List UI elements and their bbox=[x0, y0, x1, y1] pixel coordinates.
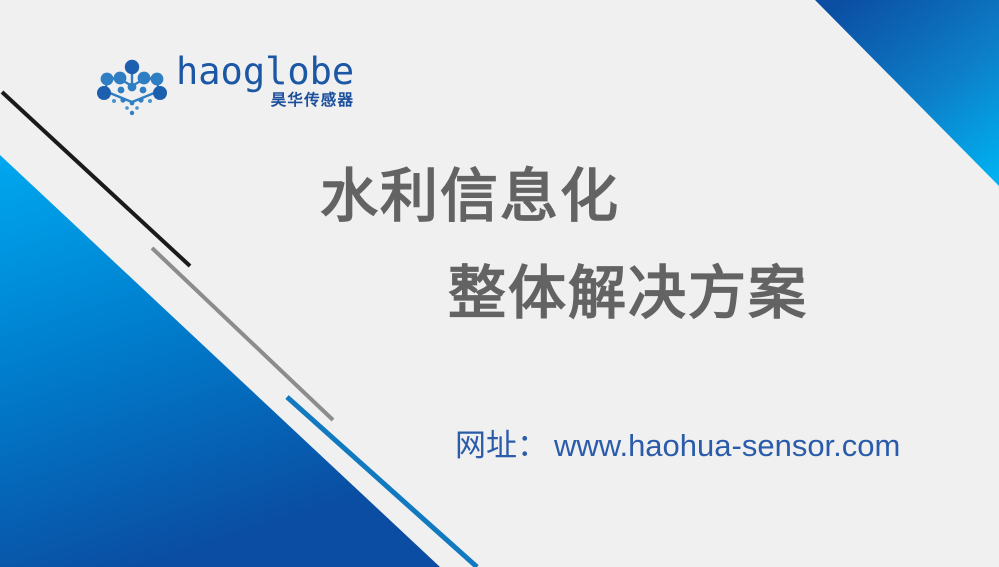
website-url[interactable]: www.haohua-sensor.com bbox=[554, 428, 900, 464]
slide-title-line-2: 整体解决方案 bbox=[448, 265, 808, 323]
slide-canvas: haoglobe 昊华传感器 水利信息化 整体解决方案 网址： www.haoh… bbox=[0, 0, 999, 567]
logo-wordmark-group: haoglobe 昊华传感器 bbox=[176, 54, 354, 109]
haoglobe-network-dots-icon bbox=[96, 56, 168, 122]
slide-title-line-1: 水利信息化 bbox=[320, 168, 620, 226]
logo-wordmark-text: haoglobe bbox=[176, 54, 354, 89]
website-label: 网址： bbox=[455, 420, 548, 465]
website-line: 网址： www.haohua-sensor.com bbox=[455, 420, 900, 465]
top-right-blue-triangle bbox=[815, 0, 999, 186]
company-logo: haoglobe 昊华传感器 bbox=[96, 54, 326, 126]
logo-subtitle-text: 昊华传感器 bbox=[271, 92, 355, 109]
